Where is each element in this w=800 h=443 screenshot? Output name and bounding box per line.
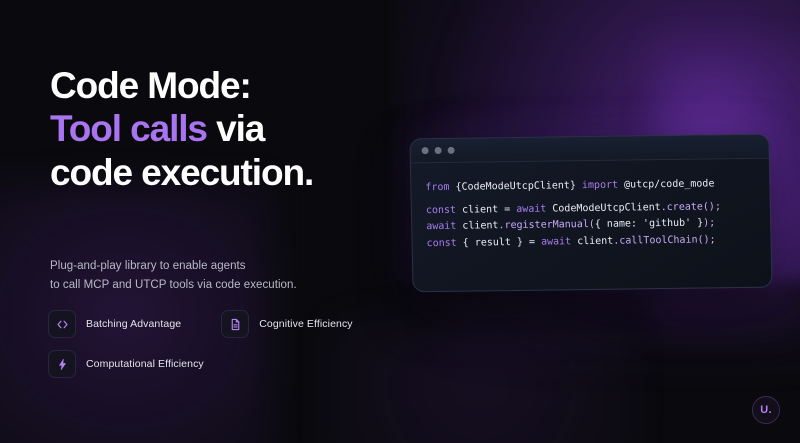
close-dot[interactable]	[422, 147, 429, 154]
headline-accent: Tool calls	[50, 108, 207, 149]
feature-chip-label: Cognitive Efficiency	[259, 318, 352, 330]
code-token: await	[541, 236, 577, 247]
code-token: .callToolChain();	[613, 234, 716, 246]
feature-chip-label: Computational Efficiency	[86, 358, 204, 370]
document-icon	[221, 310, 249, 338]
code-token: client	[577, 235, 613, 246]
subcopy-line-1: Plug-and-play library to enable agents	[50, 260, 246, 272]
lightning-bolt-icon	[48, 350, 76, 378]
feature-chip-row-2: Computational Efficiency	[48, 350, 378, 378]
code-token: await	[516, 204, 552, 215]
brand-mark: U.	[760, 404, 771, 416]
feature-chip-computational-efficiency[interactable]: Computational Efficiency	[48, 350, 204, 378]
hero-subcopy: Plug-and-play library to enable agents t…	[50, 257, 350, 294]
code-token: CodeModeUtcpClient	[552, 202, 661, 214]
feature-chip-cognitive-efficiency[interactable]: Cognitive Efficiency	[221, 310, 352, 338]
code-token: const	[427, 237, 463, 248]
code-token: from	[425, 182, 455, 193]
code-token: await	[426, 221, 462, 232]
code-token: { name: 'github' }	[595, 218, 704, 230]
code-token: .create();	[661, 201, 721, 213]
code-token: const	[426, 205, 462, 216]
headline-line-1: Code Mode:	[50, 65, 251, 106]
code-token: import	[576, 180, 624, 192]
hero-section: Code Mode: Tool calls via code execution…	[0, 0, 800, 443]
subcopy-line-2: to call MCP and UTCP tools via code exec…	[50, 279, 297, 291]
code-brackets-icon	[48, 310, 76, 338]
feature-chip-row-1: Batching Advantage Cognitive Efficiency	[48, 310, 378, 338]
code-token: .registerManual(	[498, 219, 595, 231]
feature-chip-batching-advantage[interactable]: Batching Advantage	[48, 310, 181, 338]
feature-chip-label: Batching Advantage	[86, 318, 181, 330]
maximize-dot[interactable]	[448, 147, 455, 154]
feature-chip-group: Batching Advantage Cognitive Efficiency	[48, 310, 378, 390]
headline-line-2-tail: via	[207, 108, 264, 149]
brand-logo-badge[interactable]: U.	[752, 396, 780, 424]
code-token: client	[462, 221, 498, 232]
code-block: from {CodeModeUtcpClient} import @utcp/c…	[411, 159, 771, 252]
hero-copy-column: Code Mode: Tool calls via code execution…	[50, 64, 380, 194]
page-title: Code Mode: Tool calls via code execution…	[50, 64, 380, 194]
code-token: {CodeModeUtcpClient}	[455, 180, 576, 193]
code-preview-window: from {CodeModeUtcpClient} import @utcp/c…	[409, 134, 772, 293]
code-token: client =	[462, 204, 516, 216]
headline-line-3: code execution.	[50, 152, 313, 193]
code-token: { result } =	[463, 236, 542, 248]
code-token: @utcp/code_mode	[624, 178, 715, 190]
minimize-dot[interactable]	[435, 147, 442, 154]
code-token: );	[703, 218, 715, 229]
